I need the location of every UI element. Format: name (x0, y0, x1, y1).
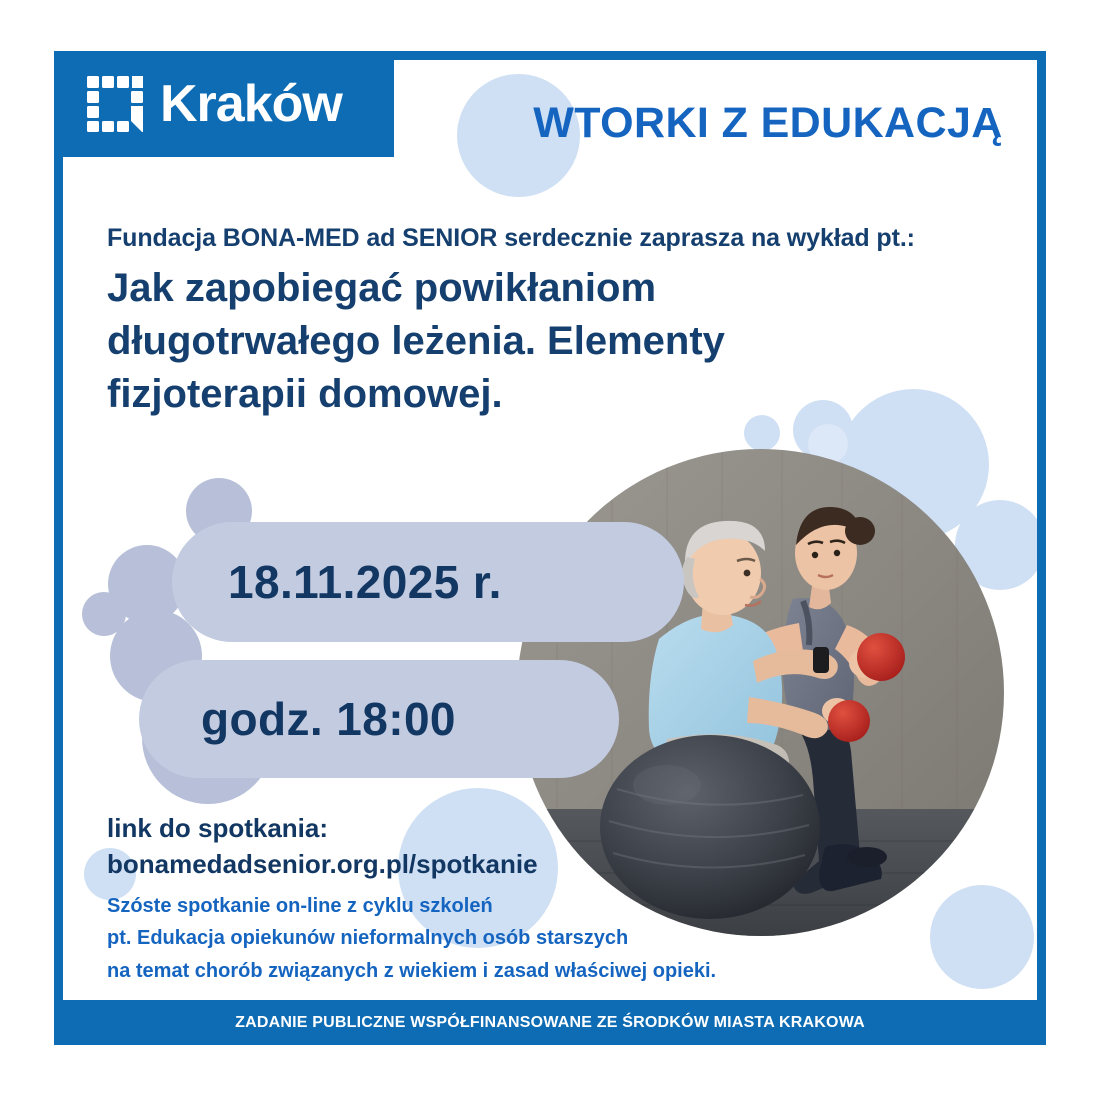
time-value: godz. 18:00 (201, 692, 456, 746)
date-pill: 18.11.2025 r. (172, 522, 684, 642)
description-line-3: na temat chorób związanych z wiekiem i z… (107, 955, 716, 987)
time-pill: godz. 18:00 (139, 660, 619, 778)
lecture-title-line-3: fizjoterapii domowej. (107, 368, 907, 421)
meeting-link-block: link do spotkania: bonamedadsenior.org.p… (107, 810, 538, 883)
poster-canvas: Kraków WTORKI Z EDUKACJĄ Fundacja BONA-M… (0, 0, 1100, 1100)
krakow-wordmark: Kraków (160, 78, 342, 130)
lecture-title: Jak zapobiegać powikłaniom długotrwałego… (107, 262, 907, 420)
lecture-title-line-2: długotrwałego leżenia. Elementy (107, 315, 907, 368)
description-line-2: pt. Edukacja opiekunów nieformalnych osó… (107, 922, 716, 954)
invitation-line: Fundacja BONA-MED ad SENIOR serdecznie z… (107, 224, 915, 253)
description-line-1: Szóste spotkanie on-line z cyklu szkoleń (107, 890, 716, 922)
meeting-link-label: link do spotkania: (107, 810, 538, 846)
series-title: WTORKI Z EDUKACJĄ (498, 99, 1038, 148)
date-value: 18.11.2025 r. (228, 555, 502, 609)
decor-circle (930, 885, 1034, 989)
funding-footer-text: ZADANIE PUBLICZNE WSPÓŁFINANSOWANE ZE ŚR… (235, 1014, 865, 1032)
decor-circle (744, 415, 780, 451)
krakow-logo-block: Kraków (54, 51, 394, 157)
meeting-link-url[interactable]: bonamedadsenior.org.pl/spotkanie (107, 846, 538, 882)
krakow-grid-logo-icon (87, 76, 143, 132)
funding-footer: ZADANIE PUBLICZNE WSPÓŁFINANSOWANE ZE ŚR… (54, 1000, 1046, 1045)
lecture-title-line-1: Jak zapobiegać powikłaniom (107, 262, 907, 315)
description-block: Szóste spotkanie on-line z cyklu szkoleń… (107, 890, 716, 987)
